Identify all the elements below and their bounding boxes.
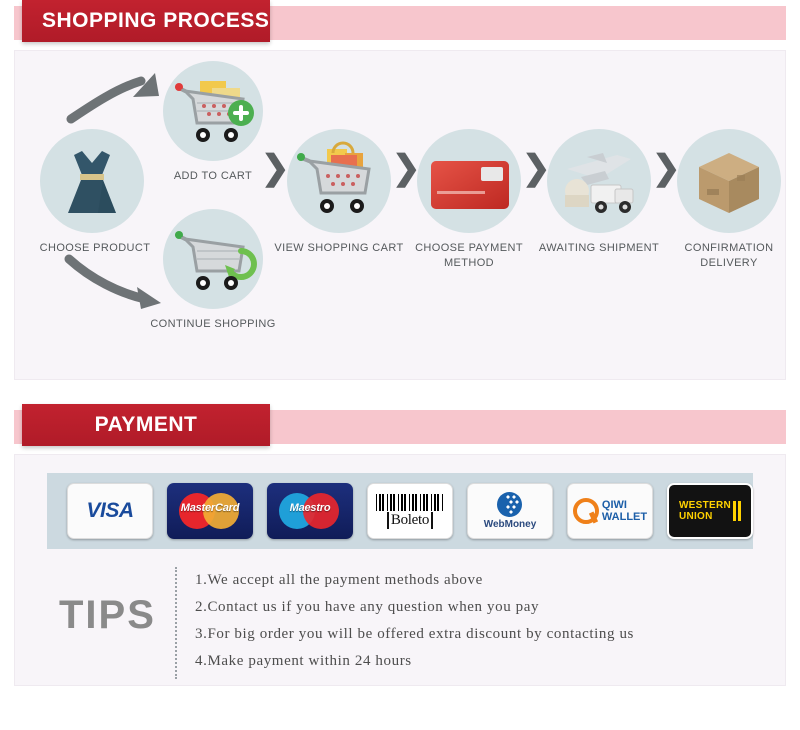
wu-wordmark-line1: WESTERN: [679, 500, 731, 511]
tips-list: 1.We accept all the payment methods abov…: [195, 567, 775, 675]
qiwi-q-icon: [573, 498, 599, 524]
payment-logo-western-union[interactable]: WESTERN UNION: [667, 483, 753, 539]
payment-title: PAYMENT: [22, 413, 270, 437]
payment-logo-mastercard[interactable]: MasterCard: [167, 483, 253, 539]
payment-logo-maestro[interactable]: Maestro: [267, 483, 353, 539]
step-label-continue-shopping: CONTINUE SHOPPING: [128, 317, 298, 332]
step-label-line1: CONFIRMATION: [685, 242, 774, 254]
cart-refresh-icon: [163, 209, 263, 309]
package-box-icon: [677, 129, 781, 233]
dress-icon: [40, 129, 144, 233]
banner-red-tab: PAYMENT: [22, 404, 270, 446]
shopping-process-panel: CHOOSE PRODUCT: [14, 50, 786, 380]
plane-truck-icon: [547, 129, 651, 233]
tip-item: 3.For big order you will be offered extr…: [195, 621, 775, 648]
tips-area: TIPS 1.We accept all the payment methods…: [15, 565, 785, 683]
western-union-mark: WESTERN UNION: [679, 500, 741, 522]
cart-bags-icon: [287, 129, 391, 233]
wu-wordmark-line2: UNION: [679, 511, 731, 522]
payment-logo-webmoney[interactable]: WebMoney: [467, 483, 553, 539]
tip-item: 1.We accept all the payment methods abov…: [195, 567, 775, 594]
shopping-process-title: SHOPPING PROCESS: [22, 9, 270, 33]
webmoney-mark: WebMoney: [484, 492, 537, 530]
step-label-view-cart: VIEW SHOPPING CART: [269, 241, 409, 256]
payment-methods-strip: VISA MasterCard Maestro Boleto: [47, 473, 753, 549]
banner-red-tab: SHOPPING PROCESS: [22, 0, 270, 42]
step-label-line2: METHOD: [444, 257, 494, 269]
payment-panel: VISA MasterCard Maestro Boleto: [14, 454, 786, 686]
credit-card-icon: [417, 129, 521, 233]
step-label-line1: CHOOSE PAYMENT: [415, 242, 523, 254]
step-label-awaiting-shipment: AWAITING SHIPMENT: [529, 241, 669, 256]
webmoney-wordmark: WebMoney: [484, 519, 537, 530]
step-label-choose-payment: CHOOSE PAYMENT METHOD: [399, 241, 539, 271]
globe-icon: [497, 492, 522, 517]
boleto-mark: Boleto: [368, 484, 452, 538]
maestro-mark: Maestro: [273, 491, 347, 531]
tip-item: 4.Make payment within 24 hours: [195, 648, 775, 675]
payment-banner: PAYMENT: [14, 404, 786, 446]
payment-logo-qiwi[interactable]: QIWI WALLET: [567, 483, 653, 539]
maestro-wordmark: Maestro: [273, 502, 347, 514]
barcode-icon: [376, 494, 444, 511]
tips-divider: [175, 567, 177, 679]
payment-logo-visa[interactable]: VISA: [67, 483, 153, 539]
curved-arrow-down-icon: [63, 249, 178, 311]
payment-logo-boleto[interactable]: Boleto: [367, 483, 453, 539]
tips-heading: TIPS: [59, 593, 156, 638]
chevron-right-icon-1: ❯: [261, 151, 290, 185]
wu-bars-icon: [733, 501, 741, 521]
step-label-choose-product: CHOOSE PRODUCT: [20, 241, 170, 256]
qiwi-wordmark-line1: QIWI: [602, 499, 647, 511]
tip-item: 2.Contact us if you have any question wh…: [195, 594, 775, 621]
shopping-process-banner: SHOPPING PROCESS: [14, 0, 786, 42]
curved-arrow-up-icon: [63, 63, 173, 125]
qiwi-wordmark-line2: WALLET: [602, 511, 647, 523]
step-label-line2: DELIVERY: [700, 257, 757, 269]
mastercard-mark: MasterCard: [173, 491, 247, 531]
mastercard-wordmark: MasterCard: [173, 502, 247, 514]
step-label-confirmation: CONFIRMATION DELIVERY: [659, 241, 799, 271]
qiwi-mark: QIWI WALLET: [573, 498, 647, 524]
boleto-wordmark: Boleto: [387, 512, 433, 529]
visa-wordmark: VISA: [86, 499, 133, 523]
cart-plus-icon: [163, 61, 263, 161]
